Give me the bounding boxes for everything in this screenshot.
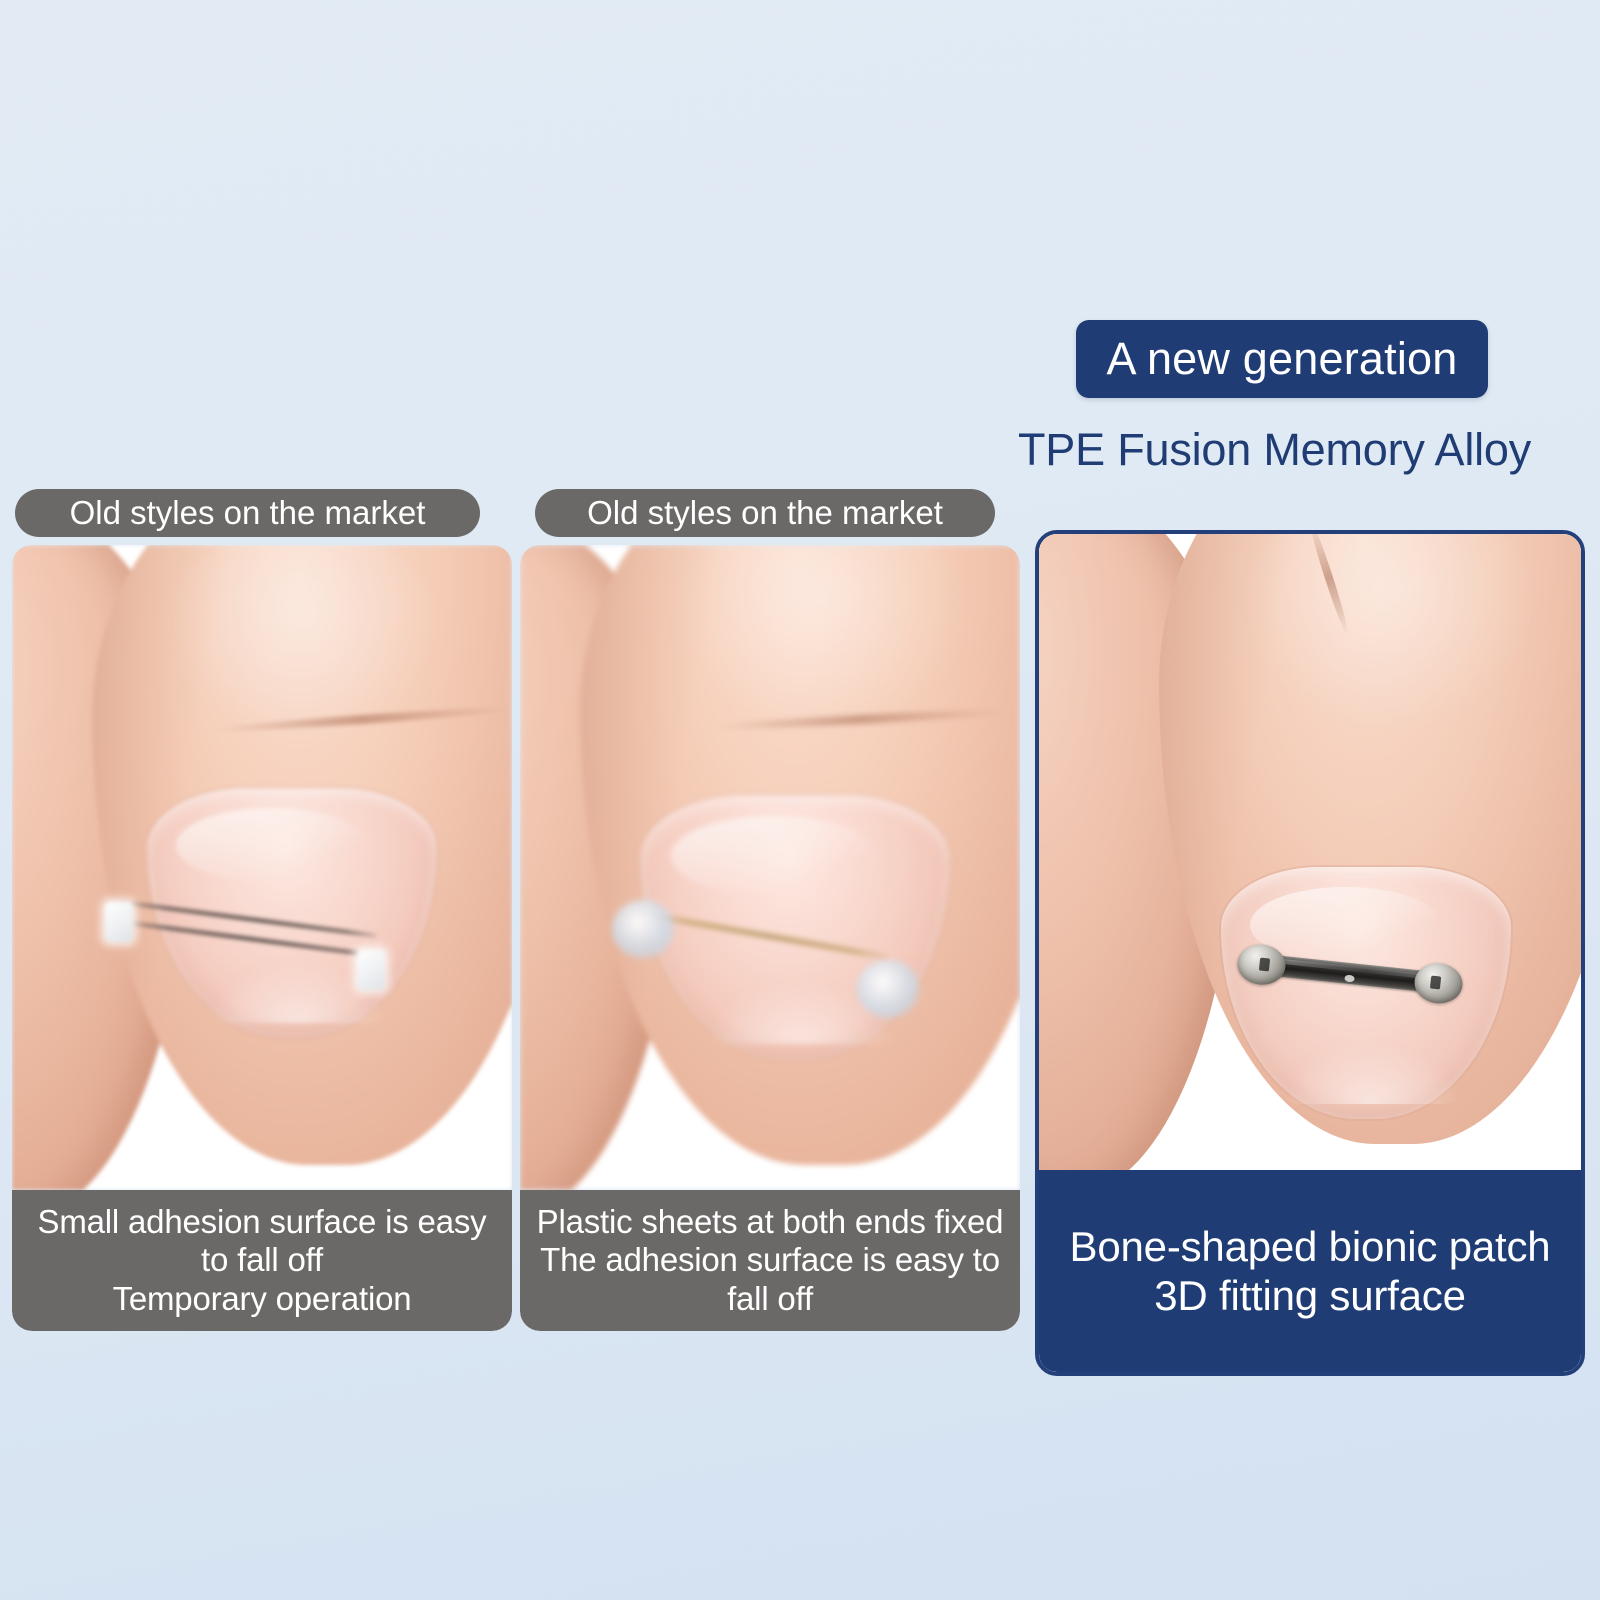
toe-crease: [1307, 534, 1352, 636]
nail-shine: [176, 808, 367, 883]
patch-notch-left: [1259, 958, 1270, 972]
caption-old-style-2: Plastic sheets at both ends fixed The ad…: [520, 1190, 1020, 1331]
caption-line-1: Plastic sheets at both ends fixed: [537, 1203, 1004, 1242]
toe-photo-new-generation: [1039, 534, 1581, 1170]
caption-line-1: Small adhesion surface is easy to fall o…: [26, 1203, 498, 1280]
old-style-badge-1: Old styles on the market: [15, 489, 480, 537]
toe-crease: [710, 707, 1010, 732]
toe-photo-old-style-1: [12, 545, 512, 1190]
nail-lunula: [1285, 1043, 1459, 1103]
caption-line-2: Temporary operation: [113, 1280, 412, 1319]
comparison-panel-old-style-2: Plastic sheets at both ends fixed The ad…: [520, 545, 1020, 1331]
toe-knuckle-highlight: [1239, 534, 1539, 734]
plastic-end-sheet-right: [857, 960, 919, 1018]
comparison-panel-old-style-1: Small adhesion surface is easy to fall o…: [12, 545, 512, 1331]
comparison-panel-new-generation: Bone-shaped bionic patch 3D fitting surf…: [1035, 530, 1585, 1376]
caption-line-2: 3D fitting surface: [1154, 1271, 1466, 1320]
old-style-badge-1-label: Old styles on the market: [70, 494, 426, 532]
caption-line-1: Bone-shaped bionic patch: [1070, 1222, 1551, 1271]
toe-knuckle-highlight: [162, 545, 442, 745]
patch-center-bar: [1262, 954, 1435, 993]
adhesive-tab-left: [105, 902, 133, 942]
nail-shine: [671, 816, 876, 896]
adhesive-tab-right: [357, 950, 385, 990]
hero-header: A new generation TPE Fusion Memory Alloy: [0, 0, 1600, 500]
caption-line-2: The adhesion surface is easy to fall off: [534, 1241, 1006, 1318]
plastic-end-sheet-left: [612, 900, 674, 958]
toe-photo-old-style-2: [520, 545, 1020, 1190]
caption-old-style-1: Small adhesion surface is easy to fall o…: [12, 1190, 512, 1331]
new-generation-badge-label: A new generation: [1107, 333, 1458, 385]
new-generation-badge: A new generation: [1076, 320, 1488, 398]
old-style-badge-2: Old styles on the market: [535, 489, 995, 537]
product-subtitle: TPE Fusion Memory Alloy: [1018, 424, 1600, 476]
toe-knuckle-highlight: [670, 545, 970, 735]
patch-notch-right: [1430, 976, 1441, 990]
old-style-badge-2-label: Old styles on the market: [587, 494, 943, 532]
caption-new-generation: Bone-shaped bionic patch 3D fitting surf…: [1039, 1170, 1581, 1372]
toe-crease: [212, 705, 512, 735]
